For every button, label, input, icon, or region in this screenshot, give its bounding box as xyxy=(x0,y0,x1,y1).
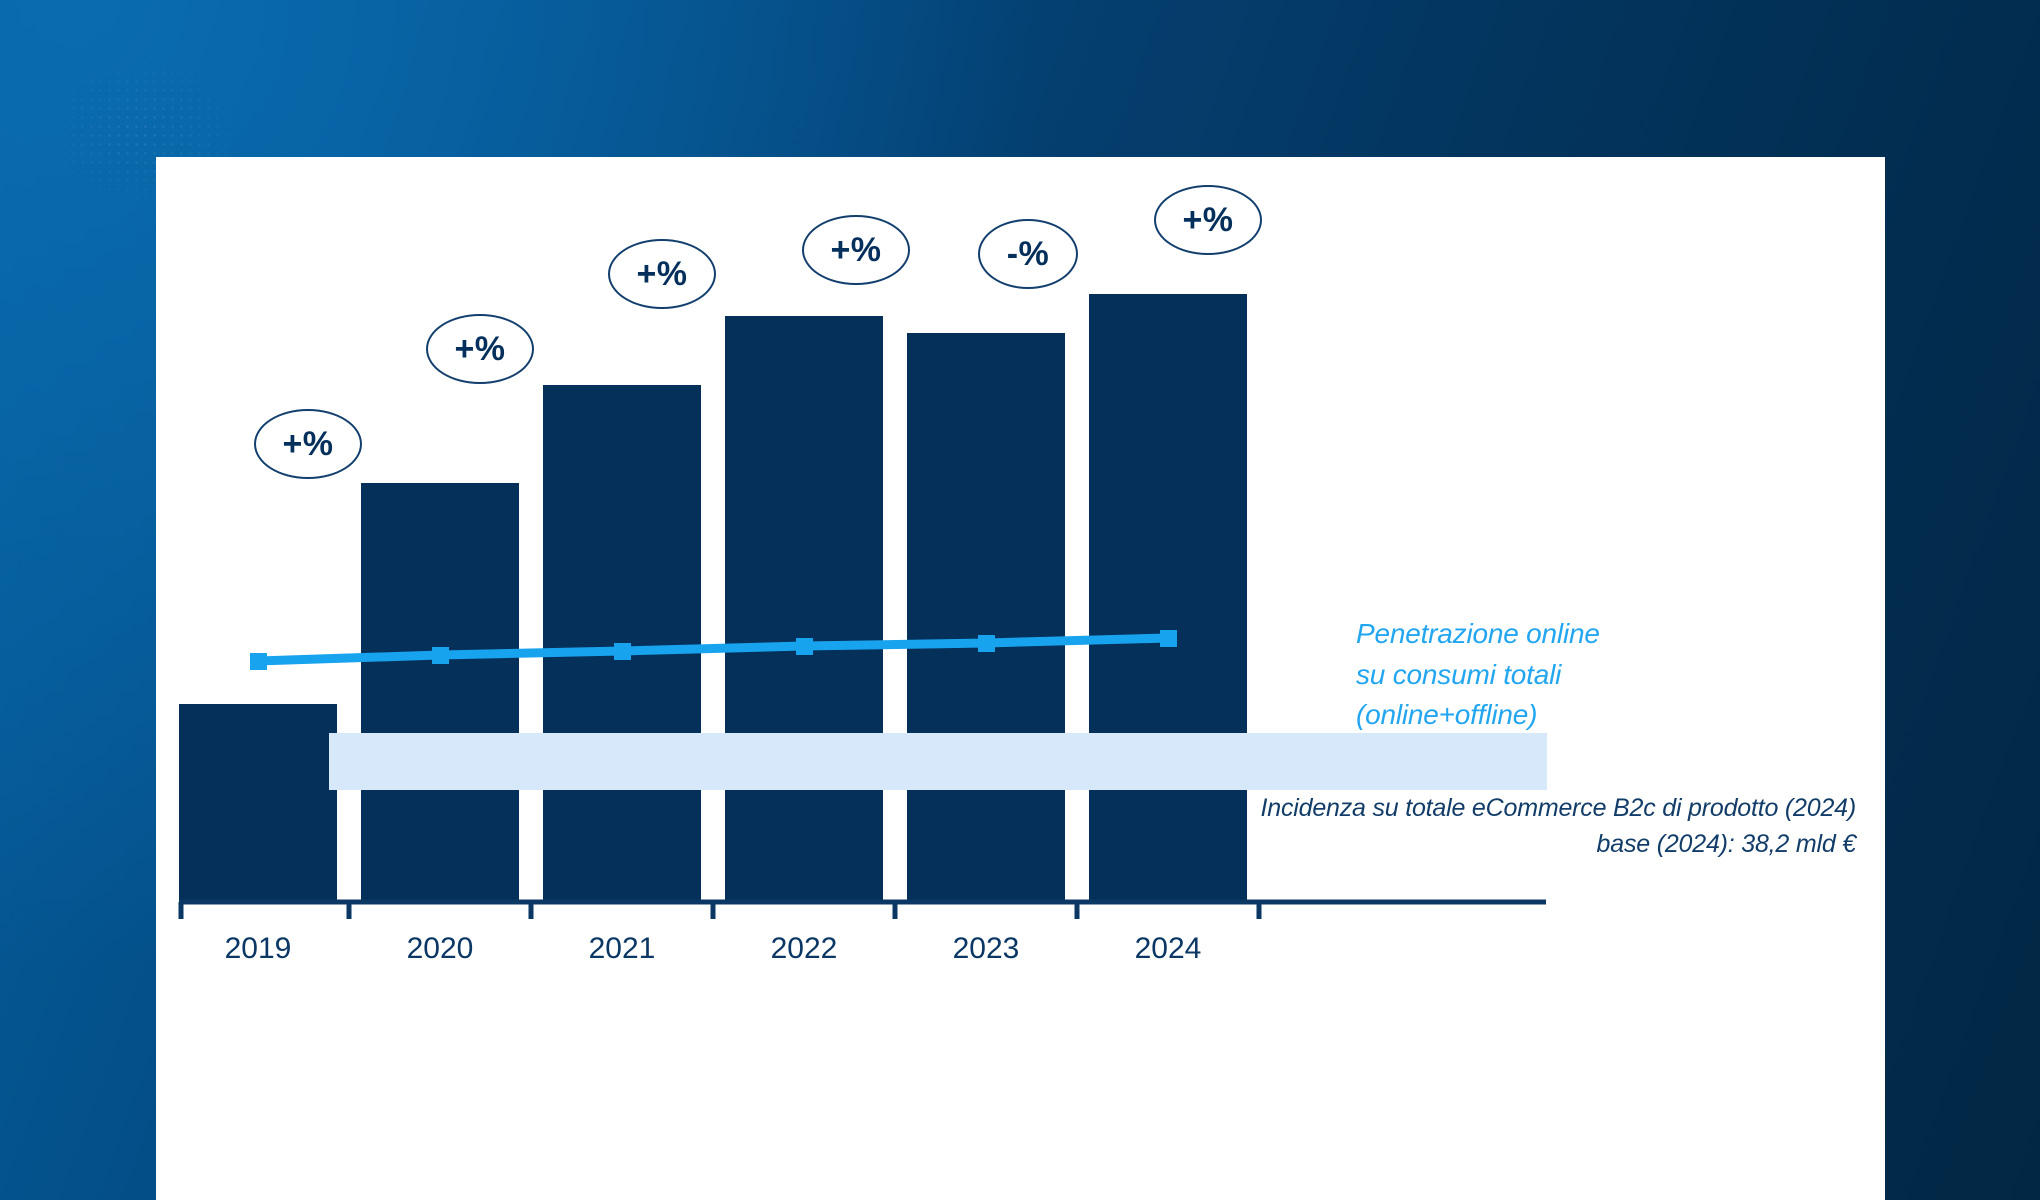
x-axis-label-2023: 2023 xyxy=(907,932,1065,966)
x-axis-label-2019: 2019 xyxy=(179,932,337,966)
incidence-bar xyxy=(179,733,1547,790)
x-axis-label-2022: 2022 xyxy=(725,932,883,966)
x-axis-label-2021: 2021 xyxy=(543,932,701,966)
penetration-legend-label: Penetrazione online su consumi totali (o… xyxy=(1356,614,1600,736)
bar-chart: +% +% +% +% -% +% xyxy=(156,157,1885,1200)
x-axis-label-2020: 2020 xyxy=(361,932,519,966)
x-axis-label-2024: 2024 xyxy=(1089,932,1247,966)
incidence-bar-fill[interactable] xyxy=(179,733,329,790)
chart-footnote: Incidenza su totale eCommerce B2c di pro… xyxy=(956,790,1856,863)
x-axis xyxy=(156,157,1885,1200)
slide-root: +% +% +% +% -% +% xyxy=(0,0,2040,1200)
slide-card: +% +% +% +% -% +% xyxy=(156,157,1885,1200)
